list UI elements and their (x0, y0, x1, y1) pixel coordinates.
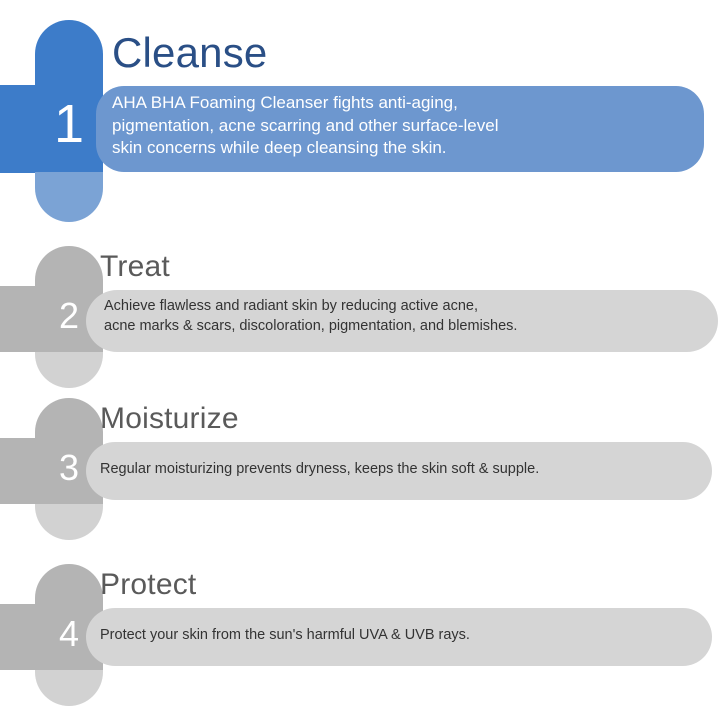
step-headline-4: Protect (100, 570, 196, 600)
step-body-text-1: AHA BHA Foaming Cleanser fights anti-agi… (112, 92, 712, 160)
step-body-text-2: Achieve flawless and radiant skin by red… (104, 296, 714, 336)
step-number-3: 3 (35, 450, 103, 486)
badge-capsule-tail-3 (35, 504, 103, 540)
step-body-text-4: Protect your skin from the sun's harmful… (100, 627, 712, 644)
step-row-4[interactable]: 4 Protect Protect your skin from the sun… (0, 550, 720, 720)
step-headline-2: Treat (100, 252, 170, 282)
step-headline-1: Cleanse (112, 32, 268, 74)
step-row-2[interactable]: 2 Treat Achieve flawless and radiant ski… (0, 240, 720, 390)
badge-capsule-tail-2 (35, 352, 103, 388)
step-number-4: 4 (35, 616, 103, 652)
step-row-1[interactable]: 1 Cleanse AHA BHA Foaming Cleanser fight… (0, 0, 720, 240)
badge-capsule-tail-1 (35, 172, 103, 222)
step-row-3[interactable]: 3 Moisturize Regular moisturizing preven… (0, 390, 720, 550)
badge-capsule-tail-4 (35, 670, 103, 706)
skincare-steps-infographic: 1 Cleanse AHA BHA Foaming Cleanser fight… (0, 0, 720, 720)
step-body-text-3: Regular moisturizing prevents dryness, k… (100, 461, 712, 478)
step-number-1: 1 (35, 97, 103, 151)
step-headline-3: Moisturize (100, 404, 239, 434)
step-number-2: 2 (35, 298, 103, 334)
